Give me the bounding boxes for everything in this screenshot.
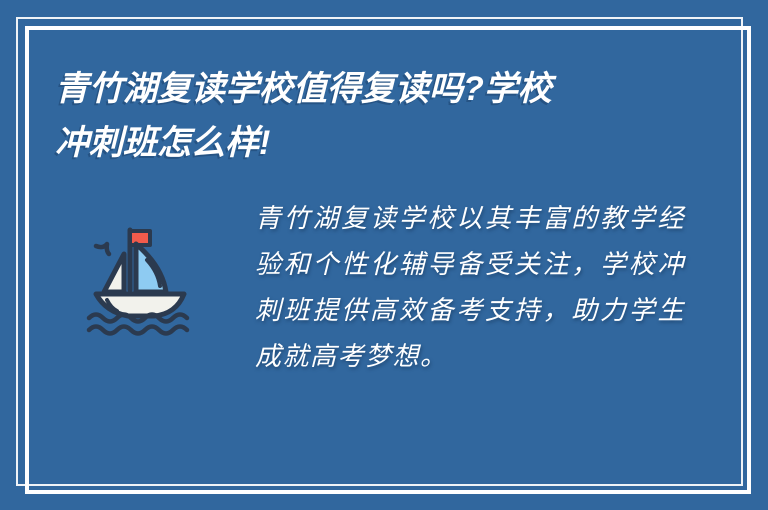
wave-line-bottom (89, 327, 187, 334)
bird-icon (96, 244, 109, 254)
page-title: 青竹湖复读学校值得复读吗?学校 冲刺班怎么样! (55, 62, 655, 170)
sailboat-icon (83, 212, 213, 342)
body-paragraph: 青竹湖复读学校以其丰富的教学经验和个性化辅导备受关注，学校冲刺班提供高效备考支持… (237, 196, 685, 380)
poster-canvas: 青竹湖复读学校值得复读吗?学校 冲刺班怎么样! (0, 0, 768, 510)
content-row: 青竹湖复读学校以其丰富的教学经验和个性化辅导备受关注，学校冲刺班提供高效备考支持… (55, 196, 708, 380)
front-sail-shape (104, 254, 124, 292)
sailboat-illustration (83, 212, 213, 342)
flag-shape (130, 231, 150, 245)
